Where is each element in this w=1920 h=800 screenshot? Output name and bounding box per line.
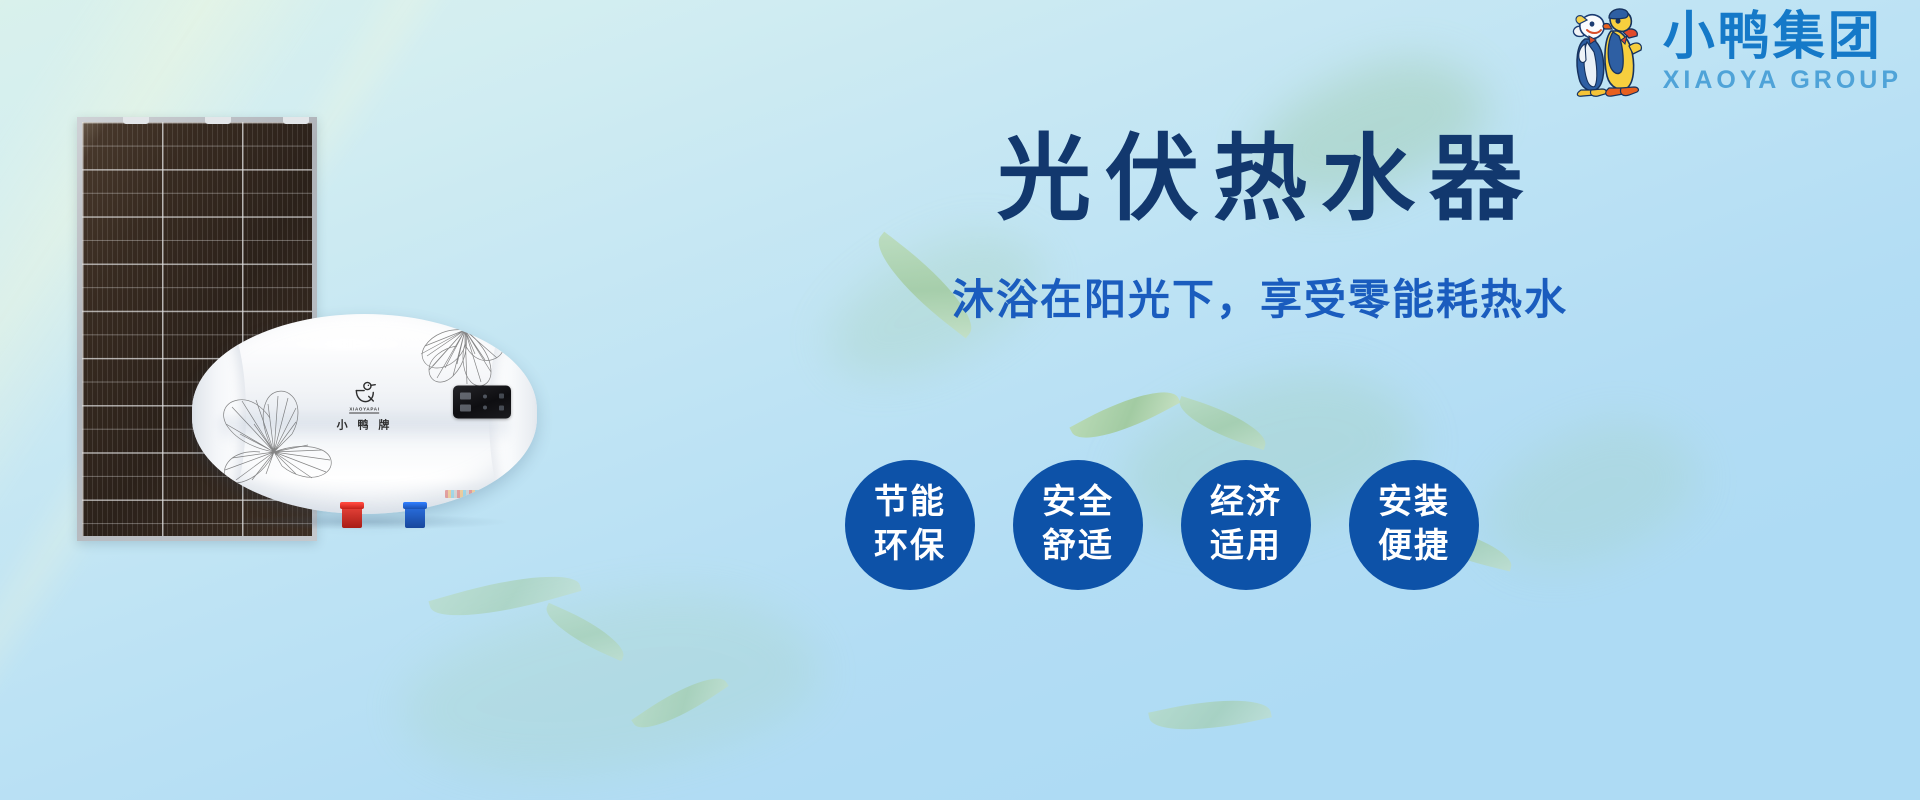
page-subtitle: 沐浴在阳光下，享受零能耗热水	[880, 266, 1640, 327]
feature-badge-energy-saving[interactable]: 节能 环保	[845, 460, 975, 590]
lcd-indicator-dot	[483, 394, 487, 398]
duck-mascots-icon	[1565, 6, 1653, 98]
heater-tank-body: XIAOYAPAI 小 鸭 牌	[192, 314, 537, 514]
brand-mark: XIAOYAPAI 小 鸭 牌	[337, 380, 393, 433]
feature-badge-easy-install[interactable]: 安装 便捷	[1349, 460, 1479, 590]
product-shadow	[222, 514, 512, 530]
promo-banner: XIAOYAPAI 小 鸭 牌	[0, 0, 1920, 800]
feature-badge-list: 节能 环保 安全 舒适 经济 适用 安装 便捷	[845, 460, 1479, 590]
lcd-indicator-dot	[499, 405, 504, 410]
badge-line-2: 便捷	[1378, 525, 1450, 569]
lcd-indicator-dot	[499, 394, 504, 399]
badge-line-1: 安装	[1378, 481, 1450, 525]
hot-water-pipe	[342, 506, 362, 528]
company-logo[interactable]: 小鸭集团 XIAOYA GROUP	[1565, 6, 1902, 98]
brand-name-en: XIAOYAPAI	[349, 407, 379, 414]
badge-line-1: 经济	[1210, 481, 1282, 525]
brand-name-cn: 小 鸭 牌	[337, 417, 393, 433]
feature-badge-safe-comfort[interactable]: 安全 舒适	[1013, 460, 1143, 590]
energy-rating-label	[445, 490, 517, 498]
panel-mount-tab	[205, 117, 231, 124]
badge-line-2: 环保	[874, 525, 946, 569]
panel-mount-tab	[123, 117, 149, 124]
badge-line-1: 节能	[874, 481, 946, 525]
lcd-temperature-segment	[460, 393, 471, 400]
logo-wordmark: 小鸭集团 XIAOYA GROUP	[1663, 11, 1902, 93]
cold-water-pipe	[405, 506, 425, 528]
floral-pattern-icon	[212, 374, 342, 489]
headline-block: 光伏热水器 沐浴在阳光下，享受零能耗热水	[880, 130, 1640, 327]
tank-highlight	[268, 338, 427, 350]
water-heater: XIAOYAPAI 小 鸭 牌	[192, 314, 537, 514]
leaf-icon	[1148, 688, 1272, 742]
badge-line-2: 适用	[1210, 525, 1282, 569]
feature-badge-economical[interactable]: 经济 适用	[1181, 460, 1311, 590]
lcd-indicator-dot	[483, 406, 487, 410]
company-name-cn: 小鸭集团	[1663, 11, 1883, 63]
lcd-mode-segment	[460, 404, 471, 411]
company-name-en: XIAOYA GROUP	[1663, 68, 1902, 93]
led-control-panel[interactable]	[453, 386, 511, 419]
panel-mount-tab	[283, 117, 309, 124]
badge-line-2: 舒适	[1042, 525, 1114, 569]
duck-logo-icon	[351, 380, 377, 406]
badge-line-1: 安全	[1042, 481, 1114, 525]
page-title: 光伏热水器	[880, 130, 1640, 230]
